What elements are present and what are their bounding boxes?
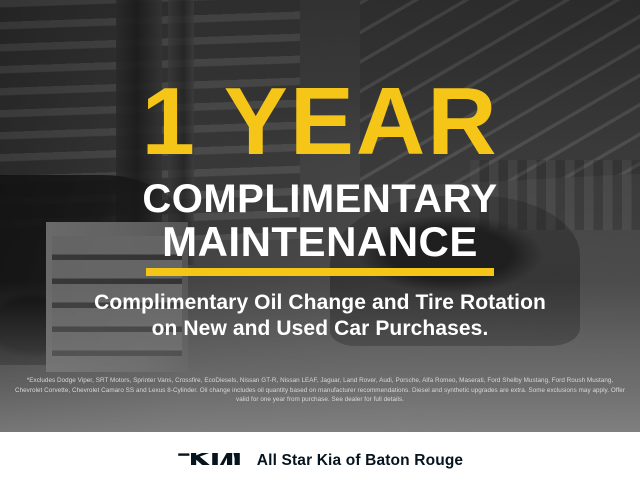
dealer-name: All Star Kia of Baton Rouge <box>257 452 463 470</box>
subheadline-line-2: on New and Used Car Purchases. <box>0 316 640 342</box>
headline-maintenance: MAINTENANCE <box>0 220 640 264</box>
subheadline-line-1: Complimentary Oil Change and Tire Rotati… <box>0 290 640 316</box>
subheadline: Complimentary Oil Change and Tire Rotati… <box>0 290 640 342</box>
dealer-footer: All Star Kia of Baton Rouge <box>0 432 640 488</box>
disclaimer-fine-print: *Excludes Dodge Viper, SRT Motors, Sprin… <box>14 376 626 405</box>
headline-year: 1 YEAR <box>0 74 640 170</box>
dealer-branding: All Star Kia of Baton Rouge <box>177 449 463 474</box>
hero-banner: 1 YEAR COMPLIMENTARY MAINTENANCE Complim… <box>0 0 640 432</box>
promo-ad: 1 YEAR COMPLIMENTARY MAINTENANCE Complim… <box>0 0 640 488</box>
headline-complimentary: COMPLIMENTARY <box>0 178 640 220</box>
hero-content: 1 YEAR COMPLIMENTARY MAINTENANCE Complim… <box>0 0 640 432</box>
yellow-divider-bar <box>146 268 494 276</box>
kia-logo-icon <box>177 449 241 474</box>
